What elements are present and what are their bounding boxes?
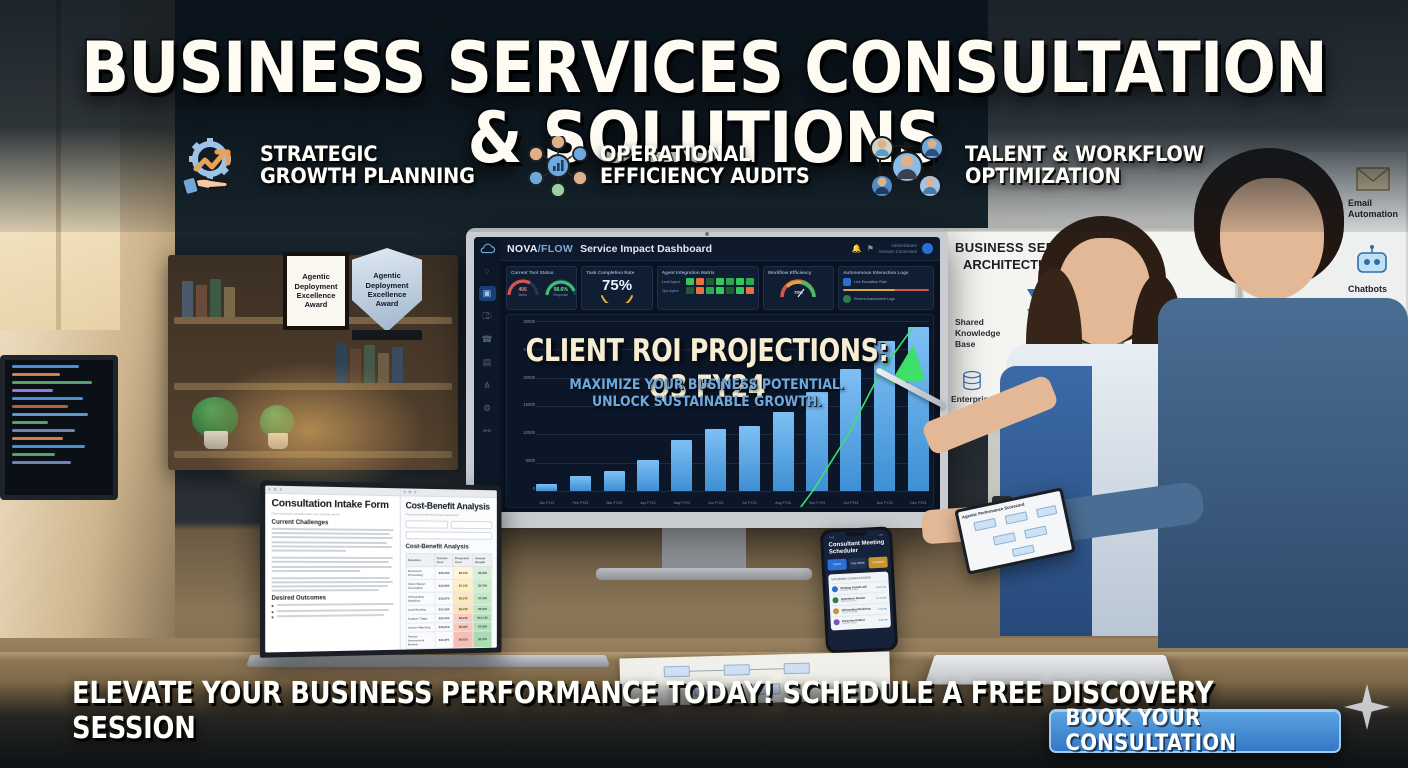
secondary-monitor [0,355,118,500]
table-cell-function: Client Report Generation [406,579,435,592]
filter-row [405,520,492,532]
table-cell-current: $21,050 [435,614,453,623]
table-cell-current: $110,805 [435,648,453,650]
cost-benefit-table-title: Cost-Benefit Analysis [405,543,492,550]
feature-line2: GROWTH PLANNING [260,164,475,188]
list-item-icon [833,608,839,614]
status-signal: LTE [879,534,884,537]
book-consultation-button[interactable]: BOOK YOUR CONSULTATION [1049,709,1341,753]
cost-benefit-title: Cost-Benefit Analysis [405,500,492,511]
table-cell-function: Document Processing [406,567,435,580]
brand-logo: NOVA/FLOW [507,243,573,255]
cta-button-label: BOOK YOUR CONSULTATION [1065,706,1324,756]
table-row: Client Report Generation$12,900$7,150$5,… [406,579,492,592]
card-title: Task Completion Rate [586,270,647,275]
cloud-logo-icon [479,243,496,255]
x-tick: Jun FY23 [705,501,726,505]
x-tick: Dec FY24 [908,501,929,505]
heatmap-row: Ops Agent [662,287,754,294]
card-title: Agent Integration Matrix [662,270,754,275]
table-header-row: FunctionCurrent CostProjected CostAnnual… [406,554,492,567]
log-item[interactable]: Recent Assessment Logs [843,295,929,303]
table-header-cell: Function [406,554,435,567]
sidebar-item-support[interactable]: ☎ [479,332,496,347]
sidebar-item-overview[interactable]: ○ [479,263,496,278]
feature-talent-workflow: TALENT & WORKFLOW OPTIMIZATION [862,136,1225,196]
award2-line4: Award [372,299,403,308]
table-cell-benefit: $52,365 [473,647,491,649]
table-cell-projected: $7,150 [453,579,473,592]
y-tick: 10000 [509,430,535,435]
table-cell-function: Total Benefit [406,648,435,649]
feature-line1: STRATEGIC [260,142,377,166]
award-base [352,330,422,340]
gauge-efficiency-value: 70% [779,290,817,295]
completion-value: 75% [586,278,647,293]
table-cell-benefit: $5,630 [473,604,491,613]
table-row: Onboarding Workflow$15,670$8,275$7,395 [406,592,492,605]
dashboard-main: NOVA/FLOW Service Impact Dashboard 🔔 ⚑ A… [500,237,940,512]
award2-line1: Agentic [369,271,405,280]
x-tick: Sep FY23 [806,501,827,505]
x-tick: Aug FY23 [773,501,794,505]
heatmap-row-label: Lead Agent [662,280,684,284]
table-cell-current: $16,810 [435,623,453,632]
status-time: 9:41 [829,536,834,539]
kpi-card-row: Current Tool Status 406 Alerts [500,261,940,314]
roi-overlay-subtitle: MAXIMIZE YOUR BUSINESS POTENTIAL. UNLOCK… [507,377,908,411]
card-title: Current Tool Status [511,270,572,275]
x-tick: Feb FY23 [570,501,591,505]
list-item-icon [832,597,838,603]
document-titlebar [265,485,399,496]
gauge-response-caption: Response [544,293,578,297]
x-tick: Apr FY23 [637,501,658,505]
feature-list: STRATEGIC GROWTH PLANNING OPERATIONAL [0,136,1408,196]
log-item-label: Recent Assessment Logs [854,297,895,301]
sidebar-item-analytics[interactable]: ⎄ [479,309,496,324]
table-cell-current: $15,670 [435,592,453,605]
heatmap-row-label: Ops Agent [662,289,684,293]
feature-line1: OPERATIONAL [600,142,750,166]
table-cell-benefit: $5,750 [473,579,491,592]
department-field[interactable] [405,520,447,528]
table-cell-current: $18,400 [435,567,453,580]
award-line2: Deployment [295,282,338,291]
log-item[interactable]: Live Escalation Rate [843,278,929,291]
feature-line2: OPTIMIZATION [965,164,1121,188]
y-tick: 5000 [509,458,535,463]
list-item-time: 4:45 PM [878,618,887,621]
brand-secondary: /FLOW [538,243,573,255]
phone-screen: 9:41 LTE Consultant Meeting Scheduler TO… [823,529,895,650]
feature-strategic-growth: STRATEGIC GROWTH PLANNING [183,138,493,194]
table-cell-projected: $9,100 [453,567,473,580]
table-cell-projected: $8,275 [453,592,473,605]
award-line3: Excellence [297,291,336,300]
table-cell-function: Support Triage [406,614,435,623]
chip-today[interactable]: TODAY [827,559,846,571]
table-body: Document Processing$18,400$9,100$9,300Cl… [406,567,492,650]
topbar-right: 🔔 ⚑ Administrator Session Connected [852,243,933,254]
table-header-cell: Projected Cost [453,554,473,567]
brand-primary: NOVA [507,243,538,255]
smile-arc-icon [600,294,634,303]
avatar[interactable] [922,243,933,254]
section-current-challenges: Current Challenges [271,520,393,528]
table-row: Vendor Assessment Review$11,875$6,625$5,… [406,631,492,649]
table-cell-current: $14,100 [435,605,453,614]
smartphone: 9:41 LTE Consultant Meeting Scheduler TO… [820,526,898,654]
table-cell-projected: $9,915 [453,613,473,622]
section-desired-outcomes: Desired Outcomes [271,595,393,602]
main-monitor: ○ ▣ ⎄ ☎ ▤ ⋔ ⚙ ⚯ NOVA/FLOW Service Impact… [466,228,948,528]
list-item-time: 2:00 PM [878,607,887,610]
table-cell-function: Onboarding Workflow [406,592,435,605]
roi-sub-line2: UNLOCK SUSTAINABLE GROWTH. [592,394,822,410]
table-cell-benefit: $7,905 [473,622,491,631]
list-item-icon [834,619,840,625]
feature-operational-efficiency: OPERATIONAL EFFICIENCY AUDITS [527,136,828,196]
kpi-card-integration-matrix[interactable]: Agent Integration Matrix Lead Agent Ops … [657,266,759,310]
table-cell-benefit: $5,250 [473,631,491,648]
table-header-cell: Annual Benefit [473,554,491,567]
intake-form-title: Consultation Intake Form [271,498,393,511]
chart-x-axis: Jan FY23Feb FY23Mar FY23Apr FY23May FY23… [536,501,929,505]
x-tick: Jan FY23 [536,501,557,505]
table-cell-function: Lead Routing [406,605,435,614]
table-cell-projected: $8,905 [453,622,473,631]
x-tick: Jul FY23 [739,501,760,505]
gauge-efficiency: 70% [779,278,817,299]
x-tick: Nov FY24 [874,501,895,505]
dashboard-screen: ○ ▣ ⎄ ☎ ▤ ⋔ ⚙ ⚯ NOVA/FLOW Service Impact… [474,237,940,512]
banner-stage: Agentic Deployment Excellence Award Agen… [0,0,1408,768]
roi-sub-line1: MAXIMIZE YOUR BUSINESS POTENTIAL. [569,377,844,393]
sidebar-item-users[interactable]: ⚯ [479,424,496,439]
heatmap: Lead Agent Ops Agent [662,278,754,294]
kpi-card-workflow-efficiency[interactable]: Workflow Efficiency 70% [763,266,834,310]
phone-app-title: Consultant Meeting Scheduler [826,539,887,555]
table-cell-current: $11,875 [435,631,453,648]
table-cell-projected: $8,470 [453,605,473,614]
award-line1: Agentic [302,272,330,281]
intake-form-subtitle: Client discovery questionnaire and scopi… [271,511,393,517]
table-header-cell: Current Cost [435,554,453,567]
gauge-alerts-caption: Alerts [506,293,540,297]
alerts-icon[interactable]: ⚑ [867,244,874,253]
scope-select[interactable] [405,531,492,540]
feature-label: TALENT & WORKFLOW OPTIMIZATION [965,144,1204,188]
user-status: Session Connected [879,249,917,255]
phone-consultation-list: UPCOMING CONSULTATIONS Strategy Kickoff … [828,572,891,631]
table-cell-projected: $58,440 [453,648,473,650]
y-tick: 0 [509,486,535,491]
laptop-screen: Consultation Intake Form Client discover… [265,485,497,652]
list-item-time: 12:15 PM [876,596,887,600]
database-icon [961,371,983,391]
kpi-card-interaction-logs[interactable]: Autonomous Interaction Logs Live Escalat… [838,266,934,310]
feature-line1: TALENT & WORKFLOW [965,142,1204,166]
timeframe-field[interactable] [451,521,492,529]
gauge-alerts: 406 Alerts [506,278,540,297]
laptop: Consultation Intake Form Client discover… [260,480,502,658]
sidebar-item-flow[interactable]: ⋔ [479,378,496,393]
feature-line2: EFFICIENCY AUDITS [600,164,810,188]
cost-benefit-document[interactable]: Cost-Benefit Analysis Projected operatio… [401,488,497,649]
sidebar-item-dashboard[interactable]: ▣ [479,286,496,301]
table-cell-benefit: $7,395 [473,592,491,605]
chip-this-week[interactable]: THIS WEEK [848,558,867,570]
x-tick: Oct FY24 [840,501,861,505]
dashboard-title: Service Impact Dashboard [580,243,712,255]
phone-title-line2: Scheduler [829,548,858,556]
log-item-label: Live Escalation Rate [854,280,887,284]
cost-benefit-subtitle: Projected operational savings and return… [405,512,492,517]
list-item[interactable]: Executive DebriefQuarter Close4:45 PM [833,614,888,628]
kpi-card-completion[interactable]: Task Completion Rate 75% [581,266,652,310]
table-row: Document Processing$18,400$9,100$9,300 [406,567,492,580]
document-toolbar [401,488,497,498]
chip-pending[interactable]: PENDING [869,557,888,569]
intake-form-document[interactable]: Consultation Intake Form Client discover… [265,485,400,652]
phone-filter-chips: TODAY THIS WEEK PENDING [827,557,887,571]
dashboard-topbar: NOVA/FLOW Service Impact Dashboard 🔔 ⚑ A… [500,237,940,261]
x-tick: Mar FY23 [604,501,625,505]
sidebar-item-settings[interactable]: ⚙ [479,401,496,416]
operational-network-icon [527,136,589,196]
sidebar-item-calendar[interactable]: ▤ [479,355,496,370]
award-line4: Award [305,300,328,309]
feature-label: STRATEGIC GROWTH PLANNING [260,144,475,188]
dashboard-sidebar[interactable]: ○ ▣ ⎄ ☎ ▤ ⋔ ⚙ ⚯ [474,237,500,512]
heatmap-row: Lead Agent [662,278,754,285]
webcam-icon [705,232,709,236]
table-cell-benefit: $11,135 [473,613,491,622]
gear-growth-hand-icon [183,138,249,194]
x-tick: May FY23 [671,501,692,505]
cost-benefit-table: FunctionCurrent CostProjected CostAnnual… [405,553,492,650]
kpi-card-tool-status[interactable]: Current Tool Status 406 Alerts [506,266,577,310]
list-item-time: 10:30 AM [875,585,886,589]
award-plaque: Agentic Deployment Excellence Award [283,252,349,330]
table-cell-function: Vendor Assessment Review [406,632,435,649]
gauge-response: 98.6% Response [544,278,578,297]
list-item-icon [832,586,838,592]
desk-lamp-glow [195,360,425,500]
award2-line3: Excellence [364,290,411,299]
card-title: Workflow Efficiency [768,270,829,275]
notifications-icon[interactable]: 🔔 [852,244,862,253]
card-title: Autonomous Interaction Logs [843,270,929,275]
team-network-icon [862,136,954,196]
gauge-pair: 406 Alerts 98.6% Response [511,278,572,297]
user-info: Administrator Session Connected [879,243,917,254]
table-cell-benefit: $9,300 [473,567,491,580]
table-cell-current: $12,900 [435,579,453,592]
award2-line2: Deployment [362,281,413,290]
table-cell-projected: $6,625 [453,631,473,648]
feature-label: OPERATIONAL EFFICIENCY AUDITS [600,144,810,188]
y-tick: 30000 [509,319,535,324]
monitor-stand-base [596,568,812,580]
